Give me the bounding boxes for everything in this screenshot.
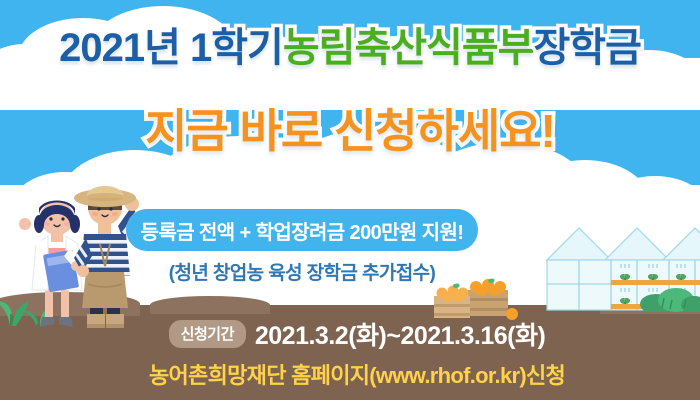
application-period-badge: 신청기간 (169, 320, 246, 348)
scholarship-promo-banner: 2021년 1학기 농림축산식품부 장학금 지금 바로 신청하세요! 등록금 전… (0, 0, 700, 400)
application-period-dates: 2021.3.2(화)~2021.3.16(화) (255, 316, 545, 352)
headline-line-1: 2021년 1학기 농림축산식품부 장학금 (0, 28, 700, 68)
homepage-link-text[interactable]: 농어촌희망재단 홈페이지(www.rhof.or.kr)신청 (0, 358, 700, 390)
headline-scholarship: 장학금 (533, 28, 640, 68)
male-farmer-illustration (62, 176, 148, 334)
headline-line-2-cta: 지금 바로 신청하세요! (0, 108, 700, 154)
benefit-subnote: (청년 창업농 육성 장학금 추가접수) (126, 258, 478, 285)
benefit-pill: 등록금 전액 + 학업장려금 200만원 지원! (126, 209, 478, 251)
green-bush-icon (640, 282, 700, 312)
headline-ministry: 농림축산식품부 (283, 28, 534, 68)
headline-semester: 2021년 1학기 (59, 28, 283, 68)
application-period-row: 신청기간 2021.3.2(화)~2021.3.16(화) (0, 316, 700, 352)
